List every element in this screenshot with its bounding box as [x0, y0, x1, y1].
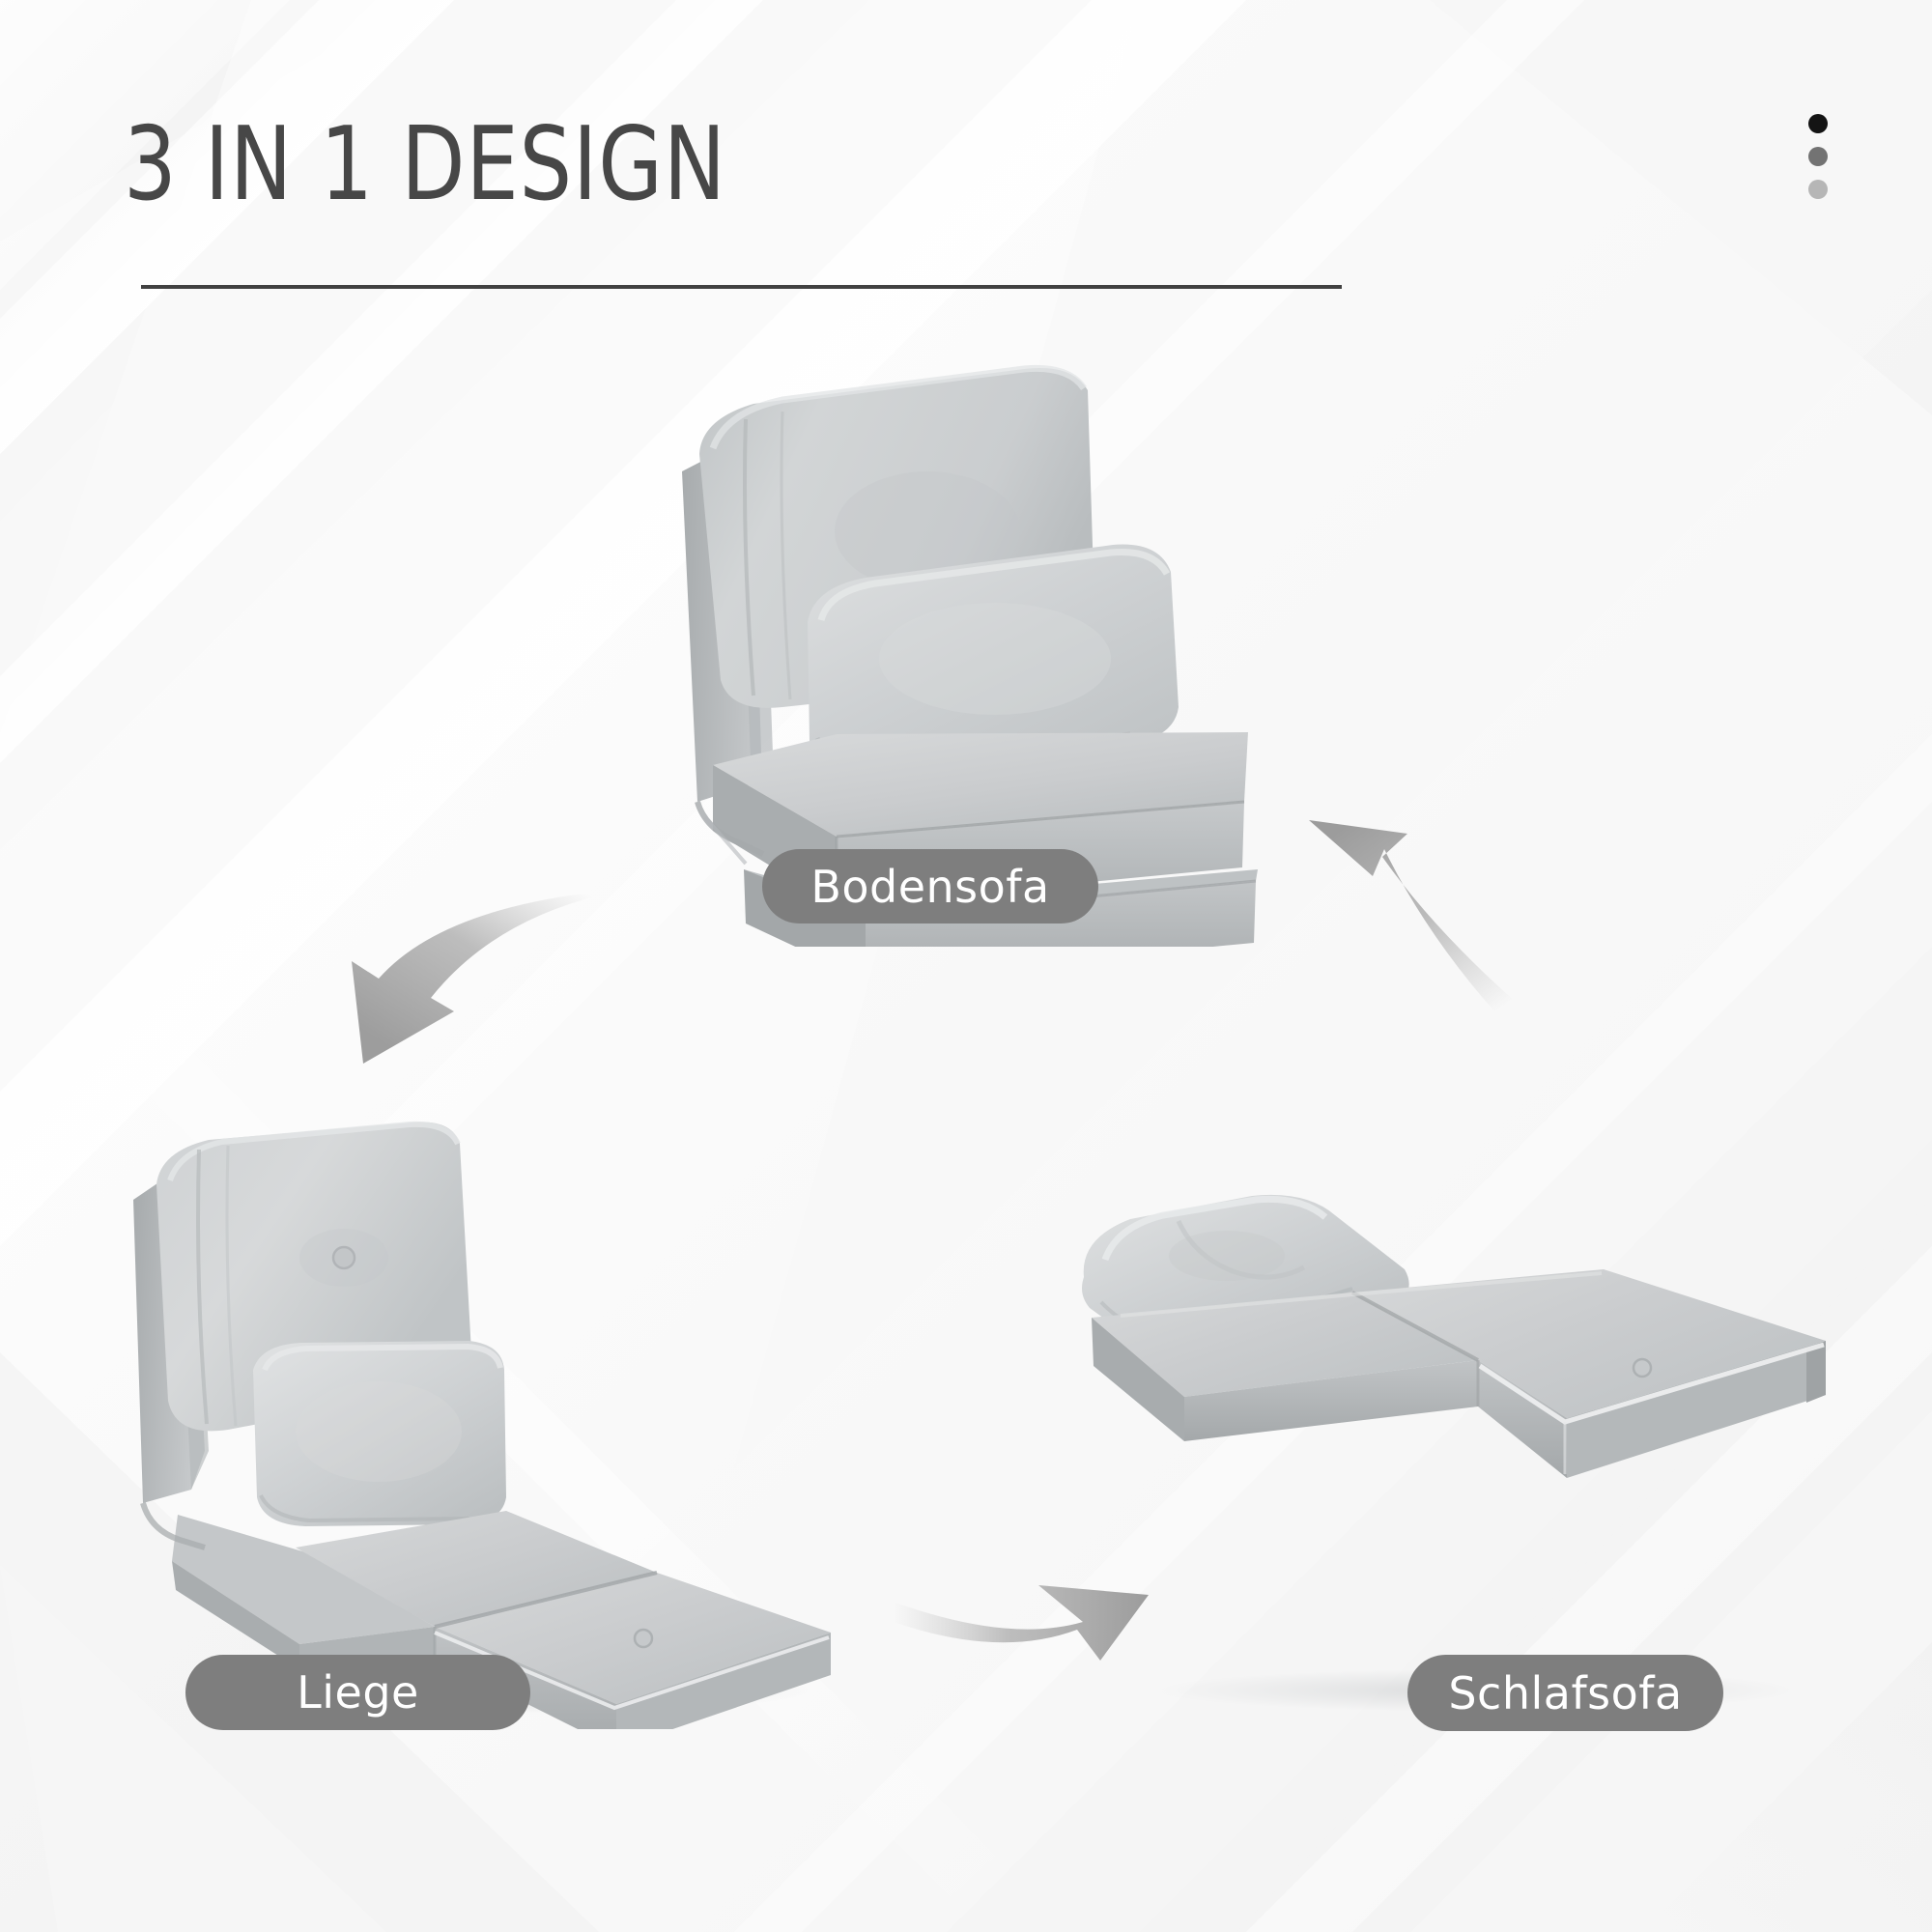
infographic-canvas: 3 IN 1 DESIGN — [0, 0, 1932, 1932]
page-indicator-dots — [1808, 114, 1833, 211]
arrow-bodensofa-to-liege — [309, 894, 609, 1096]
dot-2[interactable] — [1808, 147, 1828, 166]
header: 3 IN 1 DESIGN — [0, 0, 1932, 319]
arrow-liege-to-schlafsofa — [894, 1521, 1217, 1705]
dot-1[interactable] — [1808, 114, 1828, 133]
badge-schlafsofa[interactable]: Schlafsofa — [1407, 1655, 1723, 1731]
title-divider — [141, 285, 1342, 289]
arrow-schlafsofa-to-bodensofa — [1280, 807, 1579, 1014]
dot-3[interactable] — [1808, 180, 1828, 199]
page-title: 3 IN 1 DESIGN — [124, 114, 726, 215]
badge-bodensofa[interactable]: Bodensofa — [762, 849, 1098, 923]
product-liege — [116, 1111, 889, 1729]
badge-liege[interactable]: Liege — [185, 1655, 530, 1730]
liege-illustration — [116, 1111, 889, 1729]
